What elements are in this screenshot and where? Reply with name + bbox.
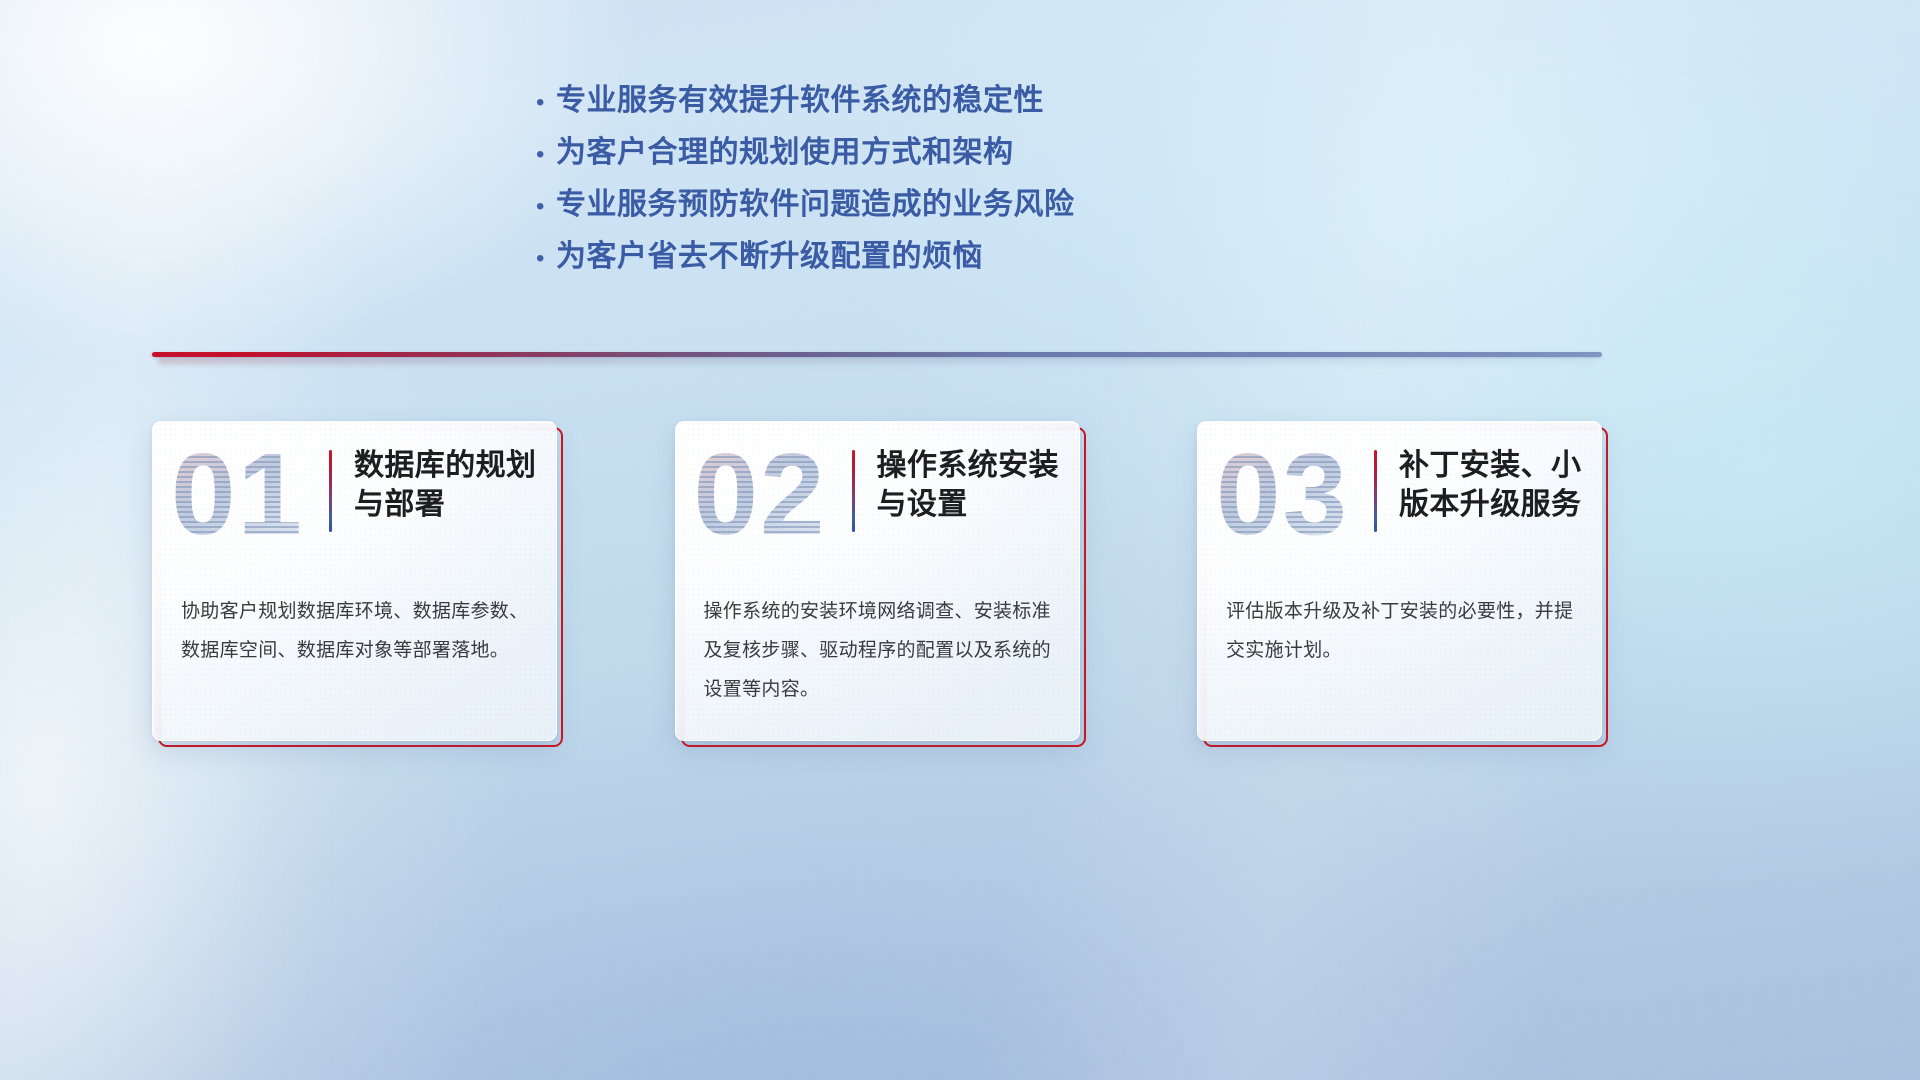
card-body-01: 协助客户规划数据库环境、数据库参数、数据库空间、数据库对象等部署落地。 [181, 592, 532, 670]
card-body-02: 操作系统的安装环境网络调查、安装标准及复核步骤、驱动程序的配置以及系统的设置等内… [704, 592, 1055, 709]
title-rule-divider [329, 450, 332, 532]
bullet-text-1: 专业服务有效提升软件系统的稳定性 [556, 86, 1044, 116]
card-number-03: 03 [1216, 436, 1349, 552]
card-header: 补丁安装、小 版本升级服务 [1374, 446, 1581, 532]
slide-canvas: • 专业服务有效提升软件系统的稳定性 • 为客户合理的规划使用方式和架构 • 专… [0, 0, 1920, 1080]
service-card-03[interactable]: 03 补丁安装、小 版本升级服务 评估版本升级及补丁安装的必要性，并提交实施计划… [1197, 421, 1602, 741]
bullet-text-4: 为客户省去不断升级配置的烦恼 [556, 242, 983, 272]
bullet-dot-icon: • [536, 143, 556, 167]
card-number-01: 01 [171, 436, 304, 552]
card-title-02: 操作系统安装 与设置 [877, 446, 1059, 524]
gradient-divider-bar [152, 348, 1602, 368]
title-rule-divider [1374, 450, 1377, 532]
divider-left-highlight [148, 352, 278, 357]
bullet-text-3: 专业服务预防软件问题造成的业务风险 [556, 190, 1075, 220]
list-item: • 为客户省去不断升级配置的烦恼 [536, 242, 1075, 294]
list-item: • 专业服务有效提升软件系统的稳定性 [536, 86, 1075, 138]
card-title-01: 数据库的规划 与部署 [354, 446, 536, 524]
card-title-03: 补丁安装、小 版本升级服务 [1399, 446, 1581, 524]
card-surface: 03 补丁安装、小 版本升级服务 评估版本升级及补丁安装的必要性，并提交实施计划… [1197, 421, 1602, 741]
service-card-01[interactable]: 01 数据库的规划 与部署 协助客户规划数据库环境、数据库参数、数据库空间、数据… [152, 421, 557, 741]
service-card-row: 01 数据库的规划 与部署 协助客户规划数据库环境、数据库参数、数据库空间、数据… [152, 421, 1602, 741]
bullet-dot-icon: • [536, 91, 556, 115]
title-rule-divider [852, 450, 855, 532]
bullet-text-2: 为客户合理的规划使用方式和架构 [556, 138, 1014, 168]
bullet-dot-icon: • [536, 247, 556, 271]
card-surface: 01 数据库的规划 与部署 协助客户规划数据库环境、数据库参数、数据库空间、数据… [152, 421, 557, 741]
card-body-03: 评估版本升级及补丁安装的必要性，并提交实施计划。 [1226, 592, 1577, 670]
service-card-02[interactable]: 02 操作系统安装 与设置 操作系统的安装环境网络调查、安装标准及复核步骤、驱动… [675, 421, 1080, 741]
bullet-dot-icon: • [536, 195, 556, 219]
card-header: 操作系统安装 与设置 [852, 446, 1059, 532]
list-item: • 为客户合理的规划使用方式和架构 [536, 138, 1075, 190]
card-header: 数据库的规划 与部署 [329, 446, 536, 532]
list-item: • 专业服务预防软件问题造成的业务风险 [536, 190, 1075, 242]
divider-shadow [158, 357, 1596, 364]
card-number-02: 02 [694, 436, 827, 552]
divider-line [152, 352, 1602, 357]
card-surface: 02 操作系统安装 与设置 操作系统的安装环境网络调查、安装标准及复核步骤、驱动… [675, 421, 1080, 741]
benefits-bullet-list: • 专业服务有效提升软件系统的稳定性 • 为客户合理的规划使用方式和架构 • 专… [536, 86, 1075, 294]
